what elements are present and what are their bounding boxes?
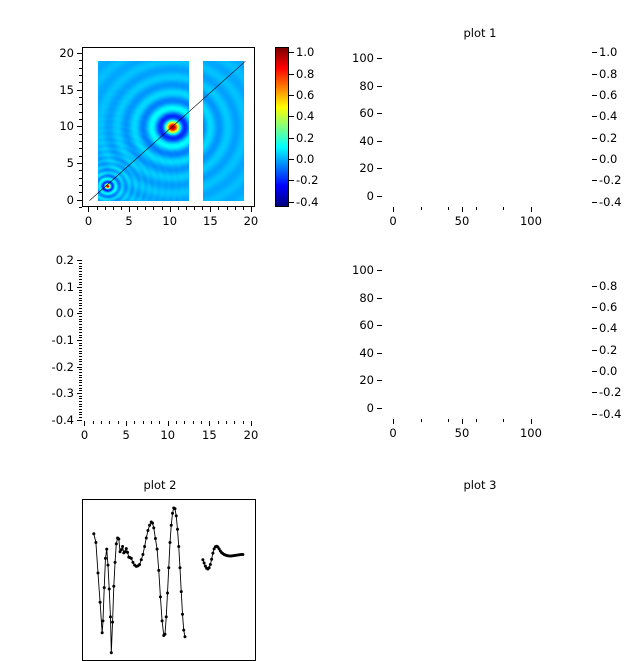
ytick-label: 15 <box>38 83 74 97</box>
plot0-colorbar-gradient <box>276 48 288 206</box>
ytick-label: 0.1 <box>38 280 74 294</box>
colorbar-tick-label: -0.2 <box>599 385 621 399</box>
ytick-major <box>77 260 82 261</box>
colorbar-tick <box>289 180 294 181</box>
colorbar-tick-label: -0.4 <box>599 407 621 421</box>
ytick-label: 20 <box>338 373 374 387</box>
xtick-label: 10 <box>160 428 175 442</box>
colorbar-tick-label: 1.0 <box>296 45 314 59</box>
colorbar-tick <box>592 392 597 393</box>
xtick-minor <box>202 207 203 210</box>
colorbar-tick <box>289 138 294 139</box>
ytick-minor <box>79 271 82 272</box>
colorbar-tick <box>592 202 597 203</box>
xtick-major <box>462 207 463 212</box>
ytick-minor <box>79 404 82 405</box>
ytick-label: -0.1 <box>38 333 74 347</box>
ytick-major <box>77 163 82 164</box>
xtick-minor <box>97 207 98 210</box>
colorbar-tick <box>289 202 294 203</box>
ytick-minor <box>79 332 82 333</box>
ytick-minor <box>79 359 82 360</box>
ytick-label: 0 <box>38 193 74 207</box>
ytick-minor <box>79 300 82 301</box>
ytick-label: 0.2 <box>38 253 74 267</box>
ytick-minor <box>79 319 82 320</box>
plot0-axes[interactable] <box>82 47 255 207</box>
plot2-segment-b-markers <box>201 545 244 571</box>
ytick-major <box>77 313 82 314</box>
colorbar-tick-label: 0.4 <box>296 109 314 123</box>
ytick-label: 5 <box>38 156 74 170</box>
xtick-label: 100 <box>520 426 542 440</box>
xtick-label: 0 <box>81 428 88 442</box>
ytick-minor <box>79 316 82 317</box>
xtick-minor <box>186 207 187 210</box>
colorbar-tick <box>592 180 597 181</box>
ytick-minor <box>79 303 82 304</box>
xtick-minor <box>184 421 185 424</box>
ytick-minor <box>79 321 82 322</box>
xtick-minor <box>134 421 135 424</box>
xtick-minor <box>113 207 114 210</box>
ytick-major <box>77 287 82 288</box>
xtick-minor <box>118 421 119 424</box>
ytick-minor <box>79 178 82 179</box>
xtick-label: 5 <box>125 214 132 228</box>
xtick-major <box>88 207 89 212</box>
xtick-label: 20 <box>244 214 259 228</box>
ytick-label: 20 <box>338 161 374 175</box>
colorbar-tick <box>289 116 294 117</box>
xtick-label: 10 <box>162 214 177 228</box>
xtick-minor <box>476 419 477 422</box>
ytick-major <box>377 141 382 142</box>
xtick-minor <box>105 207 106 210</box>
xtick-minor <box>137 207 138 210</box>
colorbar-tick-label: 0.8 <box>599 67 617 81</box>
colorbar-tick <box>592 371 597 372</box>
ytick-minor <box>79 156 82 157</box>
ytick-label: 80 <box>338 79 374 93</box>
ytick-minor <box>79 353 82 354</box>
ytick-minor <box>79 398 82 399</box>
ytick-minor <box>79 414 82 415</box>
xtick-major <box>210 207 211 212</box>
xtick-minor <box>243 207 244 210</box>
xtick-label: 100 <box>520 214 542 228</box>
ytick-major <box>377 298 382 299</box>
ytick-label: 40 <box>338 134 374 148</box>
figure-canvas: plot 1 plot 2 plot 3 0510152005101520020… <box>0 0 640 480</box>
xtick-major <box>393 419 394 424</box>
xtick-minor <box>218 421 219 424</box>
colorbar-tick <box>592 159 597 160</box>
colorbar-tick <box>289 95 294 96</box>
colorbar-tick-label: -0.2 <box>599 173 621 187</box>
ytick-minor <box>79 401 82 402</box>
xtick-major <box>531 419 532 424</box>
ytick-major <box>77 200 82 201</box>
ytick-label: 0 <box>338 189 374 203</box>
colorbar-tick-label: 0.8 <box>296 67 314 81</box>
ytick-minor <box>79 380 82 381</box>
xtick-label: 15 <box>202 428 217 442</box>
ytick-major <box>377 353 382 354</box>
colorbar-tick <box>289 52 294 53</box>
xtick-minor <box>448 419 449 422</box>
xtick-label: 0 <box>85 214 92 228</box>
colorbar-tick <box>592 74 597 75</box>
xtick-major <box>129 207 130 212</box>
ytick-major <box>377 58 382 59</box>
colorbar-tick <box>592 414 597 415</box>
ytick-label: 20 <box>38 46 74 60</box>
colorbar-tick-label: 0.0 <box>296 152 314 166</box>
ytick-minor <box>79 298 82 299</box>
ytick-minor <box>79 82 82 83</box>
ytick-minor <box>79 263 82 264</box>
plot2-segment-a-markers <box>92 506 186 654</box>
ytick-minor <box>79 348 82 349</box>
xtick-minor <box>153 207 154 210</box>
ytick-label: 60 <box>338 106 374 120</box>
ytick-minor <box>79 351 82 352</box>
ytick-major <box>377 270 382 271</box>
colorbar-tick-label: 0.6 <box>599 300 617 314</box>
ytick-major <box>77 126 82 127</box>
ytick-minor <box>79 148 82 149</box>
plot0-line-layer <box>83 48 255 207</box>
xtick-minor <box>503 207 504 210</box>
xtick-label: 20 <box>244 428 259 442</box>
ytick-minor <box>79 372 82 373</box>
ytick-label: -0.3 <box>38 386 74 400</box>
ytick-minor <box>79 343 82 344</box>
colorbar-tick-label: 0.4 <box>599 321 617 335</box>
ytick-minor <box>79 75 82 76</box>
ytick-minor <box>79 276 82 277</box>
plot0-colorbar <box>275 47 289 207</box>
ytick-minor <box>79 382 82 383</box>
plot2-data-layer <box>83 500 256 661</box>
ytick-label: 60 <box>338 318 374 332</box>
ytick-minor <box>79 406 82 407</box>
ytick-minor <box>79 60 82 61</box>
colorbar-tick-label: 0.8 <box>599 279 617 293</box>
ytick-minor <box>79 377 82 378</box>
ytick-minor <box>79 290 82 291</box>
colorbar-tick-label: 0.0 <box>599 152 617 166</box>
ytick-label: 0 <box>338 401 374 415</box>
ytick-major <box>77 90 82 91</box>
plot2-axes[interactable] <box>82 499 256 661</box>
plot1-title: plot 1 <box>320 26 640 40</box>
ytick-major <box>377 408 382 409</box>
xtick-major <box>126 421 127 426</box>
xtick-minor <box>121 207 122 210</box>
ytick-minor <box>79 282 82 283</box>
colorbar-tick <box>592 52 597 53</box>
ytick-minor <box>79 112 82 113</box>
ytick-minor <box>79 305 82 306</box>
ytick-major <box>377 113 382 114</box>
colorbar-tick <box>289 159 294 160</box>
plot2-segment-b-line <box>203 546 243 569</box>
xtick-major <box>84 421 85 426</box>
xtick-minor <box>227 207 228 210</box>
ytick-major <box>77 367 82 368</box>
xtick-minor <box>109 421 110 424</box>
ytick-minor <box>79 284 82 285</box>
xtick-major <box>170 207 171 212</box>
colorbar-tick-label: 0.2 <box>599 131 617 145</box>
xtick-label: 15 <box>203 214 218 228</box>
xtick-minor <box>101 421 102 424</box>
xtick-label: 50 <box>455 214 470 228</box>
ytick-minor <box>79 192 82 193</box>
xtick-minor <box>218 207 219 210</box>
ytick-major <box>377 86 382 87</box>
ytick-minor <box>79 417 82 418</box>
colorbar-tick <box>592 95 597 96</box>
colorbar-tick-label: 0.4 <box>599 109 617 123</box>
colorbar-tick-label: 0.0 <box>599 364 617 378</box>
ytick-minor <box>79 134 82 135</box>
ytick-minor <box>79 268 82 269</box>
ytick-label: 100 <box>338 263 374 277</box>
ytick-minor <box>79 170 82 171</box>
colorbar-tick <box>592 138 597 139</box>
colorbar-tick-label: 1.0 <box>599 45 617 59</box>
xtick-major <box>168 421 169 426</box>
ytick-minor <box>79 324 82 325</box>
ytick-minor <box>79 97 82 98</box>
ytick-label: 100 <box>338 51 374 65</box>
ytick-minor <box>79 329 82 330</box>
xtick-major <box>462 419 463 424</box>
xtick-minor <box>162 207 163 210</box>
xtick-minor <box>159 421 160 424</box>
ytick-minor <box>79 385 82 386</box>
ytick-major <box>77 393 82 394</box>
colorbar-tick-label: 0.2 <box>296 131 314 145</box>
colorbar-tick-label: 0.6 <box>296 88 314 102</box>
ytick-minor <box>79 409 82 410</box>
xtick-label: 0 <box>389 214 396 228</box>
ytick-minor <box>79 369 82 370</box>
xtick-minor <box>243 421 244 424</box>
colorbar-tick-label: -0.2 <box>296 173 318 187</box>
xtick-major <box>251 421 252 426</box>
ytick-minor <box>79 295 82 296</box>
xtick-minor <box>421 207 422 210</box>
ytick-minor <box>79 311 82 312</box>
ytick-minor <box>79 207 82 208</box>
ytick-major <box>77 420 82 421</box>
xtick-minor <box>235 207 236 210</box>
xtick-minor <box>143 421 144 424</box>
ytick-minor <box>79 337 82 338</box>
ytick-minor <box>79 68 82 69</box>
xtick-major <box>251 207 252 212</box>
xtick-minor <box>193 421 194 424</box>
ytick-minor <box>79 396 82 397</box>
colorbar-tick <box>592 116 597 117</box>
ytick-minor <box>79 141 82 142</box>
ytick-minor <box>79 266 82 267</box>
ytick-label: 40 <box>338 346 374 360</box>
colorbar-tick-label: 0.2 <box>599 343 617 357</box>
ytick-major <box>377 325 382 326</box>
plot2-title: plot 2 <box>0 478 320 492</box>
ytick-label: 80 <box>338 291 374 305</box>
ytick-major <box>377 168 382 169</box>
ytick-minor <box>79 390 82 391</box>
xtick-minor <box>234 421 235 424</box>
xtick-minor <box>194 207 195 210</box>
colorbar-tick <box>592 307 597 308</box>
xtick-minor <box>476 207 477 210</box>
xtick-minor <box>176 421 177 424</box>
xtick-label: 50 <box>455 426 470 440</box>
colorbar-tick-label: -0.4 <box>599 195 621 209</box>
ytick-minor <box>79 104 82 105</box>
ytick-major <box>377 380 382 381</box>
ytick-minor <box>79 356 82 357</box>
ytick-minor <box>79 361 82 362</box>
xtick-minor <box>448 207 449 210</box>
ytick-minor <box>79 279 82 280</box>
ytick-minor <box>79 119 82 120</box>
ytick-label: -0.4 <box>38 413 74 427</box>
xtick-minor <box>503 419 504 422</box>
ytick-minor <box>79 412 82 413</box>
xtick-minor <box>145 207 146 210</box>
xtick-major <box>531 207 532 212</box>
xtick-label: 0 <box>389 426 396 440</box>
ytick-minor <box>79 375 82 376</box>
ytick-minor <box>79 388 82 389</box>
xtick-major <box>209 421 210 426</box>
ytick-minor <box>79 364 82 365</box>
colorbar-tick-label: 0.6 <box>599 88 617 102</box>
xtick-minor <box>201 421 202 424</box>
colorbar-tick <box>289 74 294 75</box>
ytick-minor <box>79 292 82 293</box>
ytick-minor <box>79 308 82 309</box>
ytick-label: 0.0 <box>38 306 74 320</box>
xtick-minor <box>93 421 94 424</box>
xtick-minor <box>178 207 179 210</box>
ytick-minor <box>79 274 82 275</box>
plot2-segment-a-line <box>94 508 185 653</box>
xtick-minor <box>421 419 422 422</box>
plot3-title: plot 3 <box>320 478 640 492</box>
colorbar-tick <box>592 350 597 351</box>
plot0-diagonal-line <box>90 61 246 200</box>
ytick-minor <box>79 335 82 336</box>
ytick-label: -0.2 <box>38 360 74 374</box>
ytick-major <box>377 196 382 197</box>
ytick-label: 10 <box>38 119 74 133</box>
ytick-minor <box>79 185 82 186</box>
colorbar-tick-label: -0.4 <box>296 195 318 209</box>
xtick-minor <box>226 421 227 424</box>
xtick-minor <box>151 421 152 424</box>
ytick-major <box>77 340 82 341</box>
ytick-minor <box>79 327 82 328</box>
ytick-minor <box>79 345 82 346</box>
colorbar-tick <box>592 328 597 329</box>
colorbar-tick <box>592 286 597 287</box>
xtick-label: 5 <box>122 428 129 442</box>
xtick-major <box>393 207 394 212</box>
ytick-major <box>77 53 82 54</box>
